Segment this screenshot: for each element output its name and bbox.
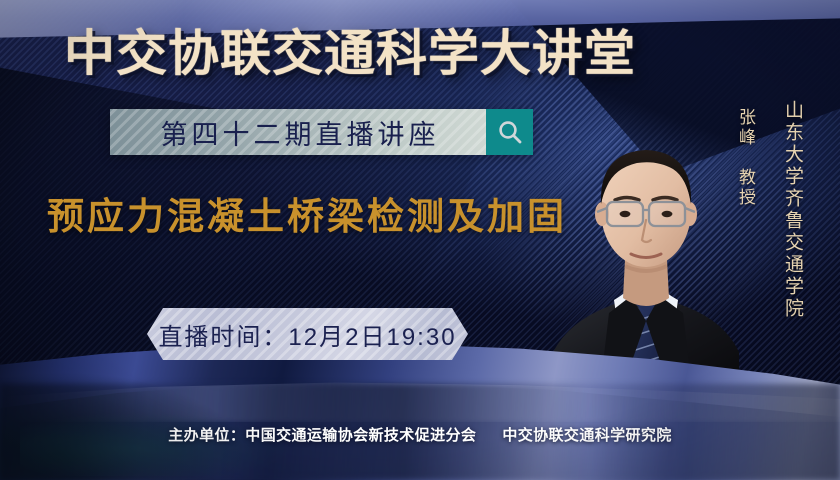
search-icon xyxy=(497,119,523,145)
footer-org-2: 中交协联交通科学研究院 xyxy=(502,427,671,444)
episode-label: 第四十二期直播讲座 xyxy=(157,113,440,152)
footer-prefix: 主办单位： xyxy=(168,427,245,444)
episode-banner: 第四十二期直播讲座 xyxy=(110,109,533,155)
poster-canvas: 中交协联交通科学大讲堂 第四十二期直播讲座 预应力混凝土桥梁检测及加固 直播时间… xyxy=(0,0,840,480)
footer-organizers: 主办单位：中国交通运输协会新技术促进分会中交协联交通科学研究院 xyxy=(0,424,840,445)
episode-banner-plate: 第四十二期直播讲座 xyxy=(110,109,486,155)
lecture-title: 预应力混凝土桥梁检测及加固 xyxy=(47,186,567,240)
broadcast-time-chip: 直播时间：12月2日19:30 xyxy=(147,308,468,360)
footer-org-1: 中国交通运输协会新技术促进分会 xyxy=(245,427,476,444)
speaker-name: 张峰 教授 xyxy=(733,108,758,208)
search-button[interactable] xyxy=(486,109,533,155)
speaker-affiliation: 山东大学齐鲁交通学院 xyxy=(779,100,806,320)
broadcast-time-text: 直播时间：12月2日19:30 xyxy=(158,317,456,352)
page-title: 中交协联交通科学大讲堂 xyxy=(0,14,714,85)
